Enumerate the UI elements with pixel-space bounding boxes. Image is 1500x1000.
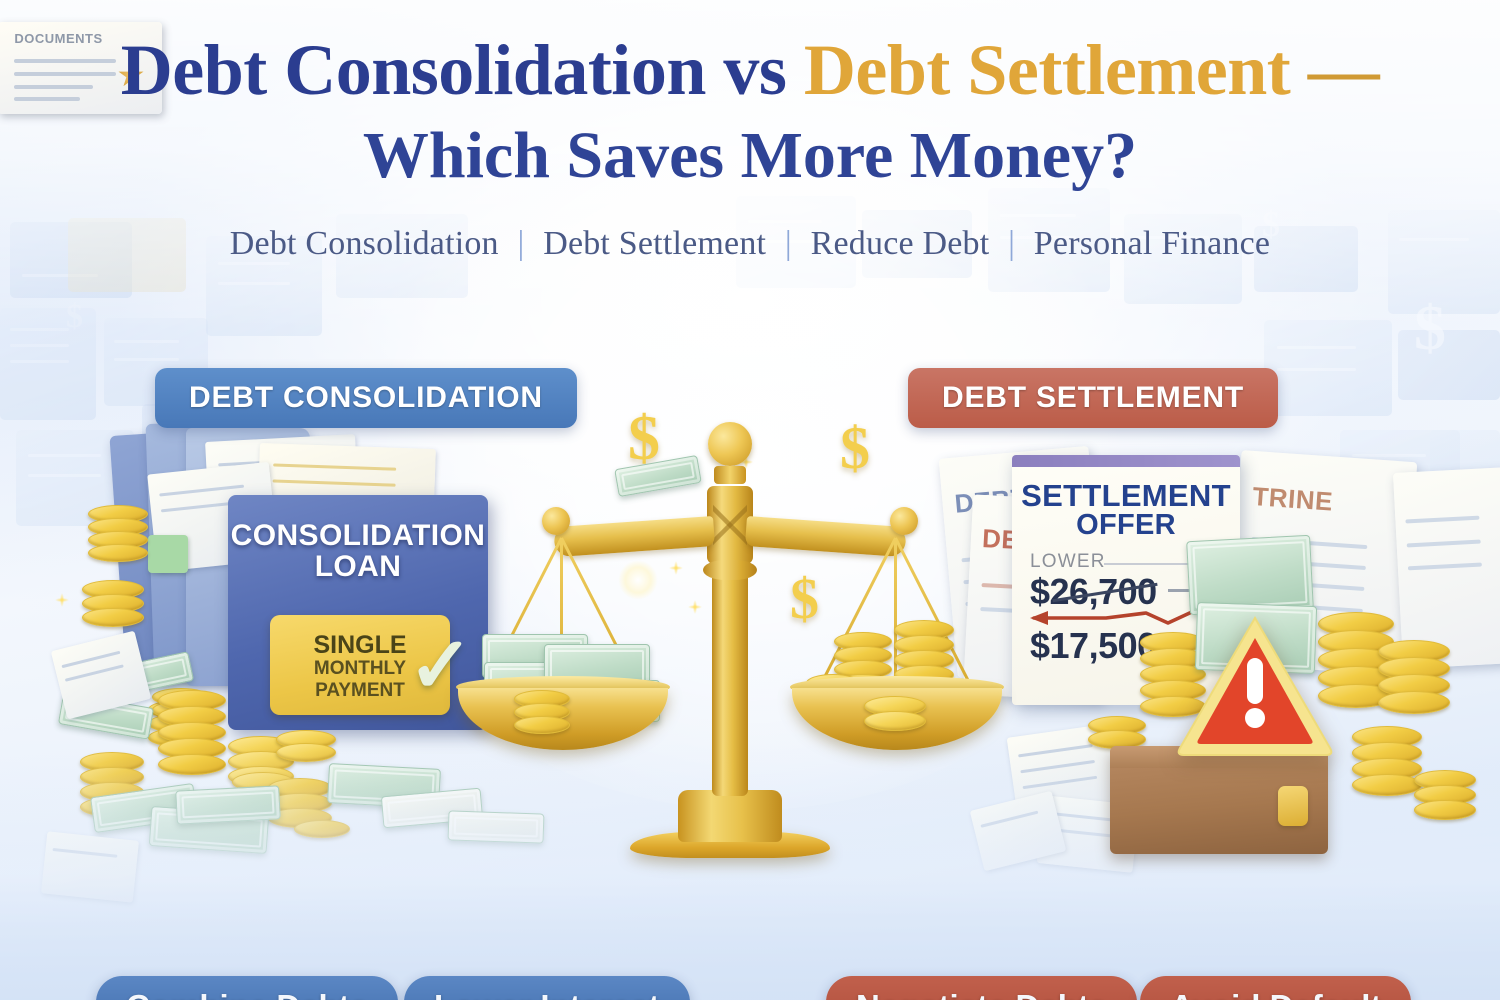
keyword-separator: | <box>998 225 1025 262</box>
bg-doc-tile <box>1264 320 1392 416</box>
offer-title-sub: OFFER <box>1012 511 1240 539</box>
scale-pan-left <box>448 538 678 768</box>
pill-negotiate-debts[interactable]: Negotiate Debts <box>826 976 1137 1000</box>
badge-debt-consolidation: DEBT CONSOLIDATION <box>155 368 577 428</box>
offer-dash <box>1168 589 1190 592</box>
settled-amount: $17,500 <box>1030 625 1157 667</box>
infographic-canvas: $ $ $ Debt Consolidation vs Debt Settlem… <box>0 0 1500 1000</box>
keyword-line: Debt Consolidation | Debt Settlement | R… <box>0 225 1500 263</box>
tag-line-3: PAYMENT <box>315 680 405 702</box>
pill-lower-interest[interactable]: Lower Interest <box>404 976 690 1000</box>
keyword-separator: | <box>507 225 534 262</box>
keyword-separator: | <box>775 225 802 262</box>
loan-title-line2: LOAN <box>315 550 402 583</box>
warning-triangle-icon <box>1175 612 1335 758</box>
scale-beam-end-left <box>542 507 570 535</box>
badge-debt-settlement: DEBT SETTLEMENT <box>908 368 1278 428</box>
sparkle-icon <box>50 588 74 612</box>
tag-line-2: MONTHLY <box>314 658 406 680</box>
title-segment-consolidation: Debt Consolidation <box>121 30 706 110</box>
scale-plinth <box>678 790 782 842</box>
pill-combine-debts[interactable]: Combine Debts <box>96 976 398 1000</box>
title-segment-settlement: Debt Settlement <box>804 30 1290 110</box>
briefcase <box>1110 746 1328 854</box>
keyword-item-0: Debt Consolidation <box>230 225 499 262</box>
header: Debt Consolidation vs Debt Settlement — … <box>0 34 1500 263</box>
scale-ring <box>703 560 757 580</box>
tag-line-1: SINGLE <box>313 633 406 658</box>
scale-beam-end-right <box>890 507 918 535</box>
scale-collar <box>714 466 746 484</box>
reduction-arrow-icon <box>1028 607 1196 627</box>
page-title: Debt Consolidation vs Debt Settlement — <box>0 34 1500 107</box>
scale-pan-right <box>782 538 1012 768</box>
keyword-item-2: Reduce Debt <box>811 225 990 262</box>
scale-finial <box>708 422 752 466</box>
briefcase-latch <box>1278 786 1308 826</box>
title-segment-vs: vs <box>723 30 786 110</box>
sticky-note <box>148 535 188 573</box>
keyword-item-3: Personal Finance <box>1034 225 1270 262</box>
background-debt-document-4 <box>1393 467 1500 669</box>
settlement-offer-title: SETTLEMENT OFFER <box>1012 481 1240 539</box>
page-subtitle-question: Which Saves More Money? <box>0 121 1500 190</box>
offer-title-main: SETTLEMENT <box>1021 478 1231 513</box>
pill-avoid-default[interactable]: Avoid Default <box>1140 976 1411 1000</box>
offer-lower-label: LOWER <box>1030 551 1106 573</box>
doc-title: TRINE <box>1251 481 1333 518</box>
offer-header-bar <box>1012 455 1240 467</box>
keyword-item-1: Debt Settlement <box>543 225 766 262</box>
title-segment-dash: — <box>1308 30 1380 110</box>
original-amount-value: $26,700 <box>1030 571 1157 612</box>
balance-scale <box>520 398 940 858</box>
